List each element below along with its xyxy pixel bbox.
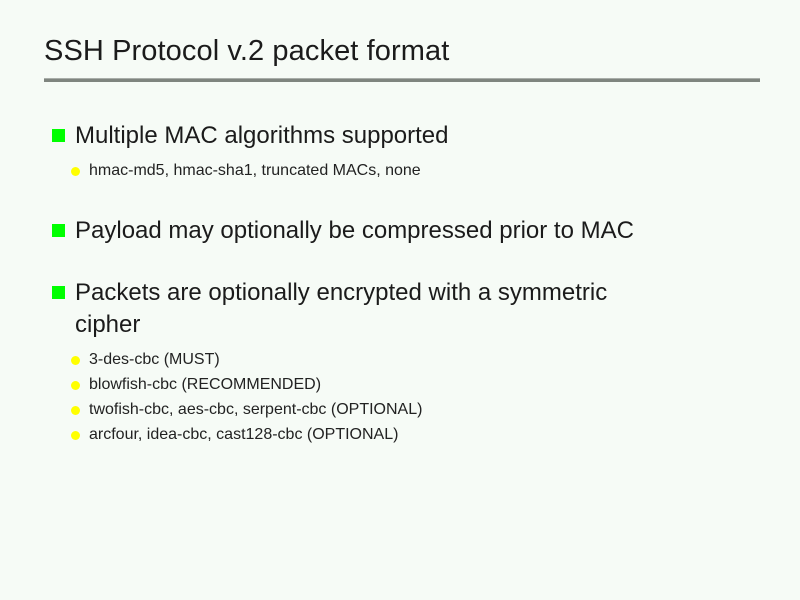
bullet-level1-label: Packets are optionally encrypted with a … [75,277,675,341]
yellow-round-bullet-icon [71,381,80,390]
bullet-level1: Payload may optionally be compressed pri… [52,215,772,247]
title-divider [44,78,760,82]
bullet-level1-label: Multiple MAC algorithms supported [75,120,449,152]
bullet-level2-label: twofish-cbc, aes-cbc, serpent-cbc (OPTIO… [89,397,422,422]
bullet-level2-group: 3-des-cbc (MUST) blowfish-cbc (RECOMMEND… [52,347,772,447]
slide-body: Multiple MAC algorithms supported hmac-m… [52,120,772,447]
spacer [52,247,772,277]
bullet-level1: Packets are optionally encrypted with a … [52,277,772,341]
green-square-bullet-icon [52,224,65,237]
bullet-level2-label: arcfour, idea-cbc, cast128-cbc (OPTIONAL… [89,422,398,447]
bullet-level2: arcfour, idea-cbc, cast128-cbc (OPTIONAL… [52,422,772,447]
green-square-bullet-icon [52,286,65,299]
slide-title-block: SSH Protocol v.2 packet format [44,33,760,69]
yellow-round-bullet-icon [71,356,80,365]
bullet-level2-label: blowfish-cbc (RECOMMENDED) [89,372,321,397]
bullet-level2: hmac-md5, hmac-sha1, truncated MACs, non… [52,158,772,183]
bullet-level2-group: hmac-md5, hmac-sha1, truncated MACs, non… [52,158,772,183]
yellow-round-bullet-icon [71,167,80,176]
bullet-level1-label: Payload may optionally be compressed pri… [75,215,634,247]
green-square-bullet-icon [52,129,65,142]
bullet-level1: Multiple MAC algorithms supported [52,120,772,152]
bullet-level2: 3-des-cbc (MUST) [52,347,772,372]
bullet-level2: twofish-cbc, aes-cbc, serpent-cbc (OPTIO… [52,397,772,422]
spacer [52,183,772,215]
bullet-level2-label: hmac-md5, hmac-sha1, truncated MACs, non… [89,158,421,183]
page-title: SSH Protocol v.2 packet format [44,33,760,69]
bullet-level2-label: 3-des-cbc (MUST) [89,347,220,372]
yellow-round-bullet-icon [71,431,80,440]
yellow-round-bullet-icon [71,406,80,415]
bullet-level2: blowfish-cbc (RECOMMENDED) [52,372,772,397]
presentation-slide: SSH Protocol v.2 packet format Multiple … [0,0,800,600]
